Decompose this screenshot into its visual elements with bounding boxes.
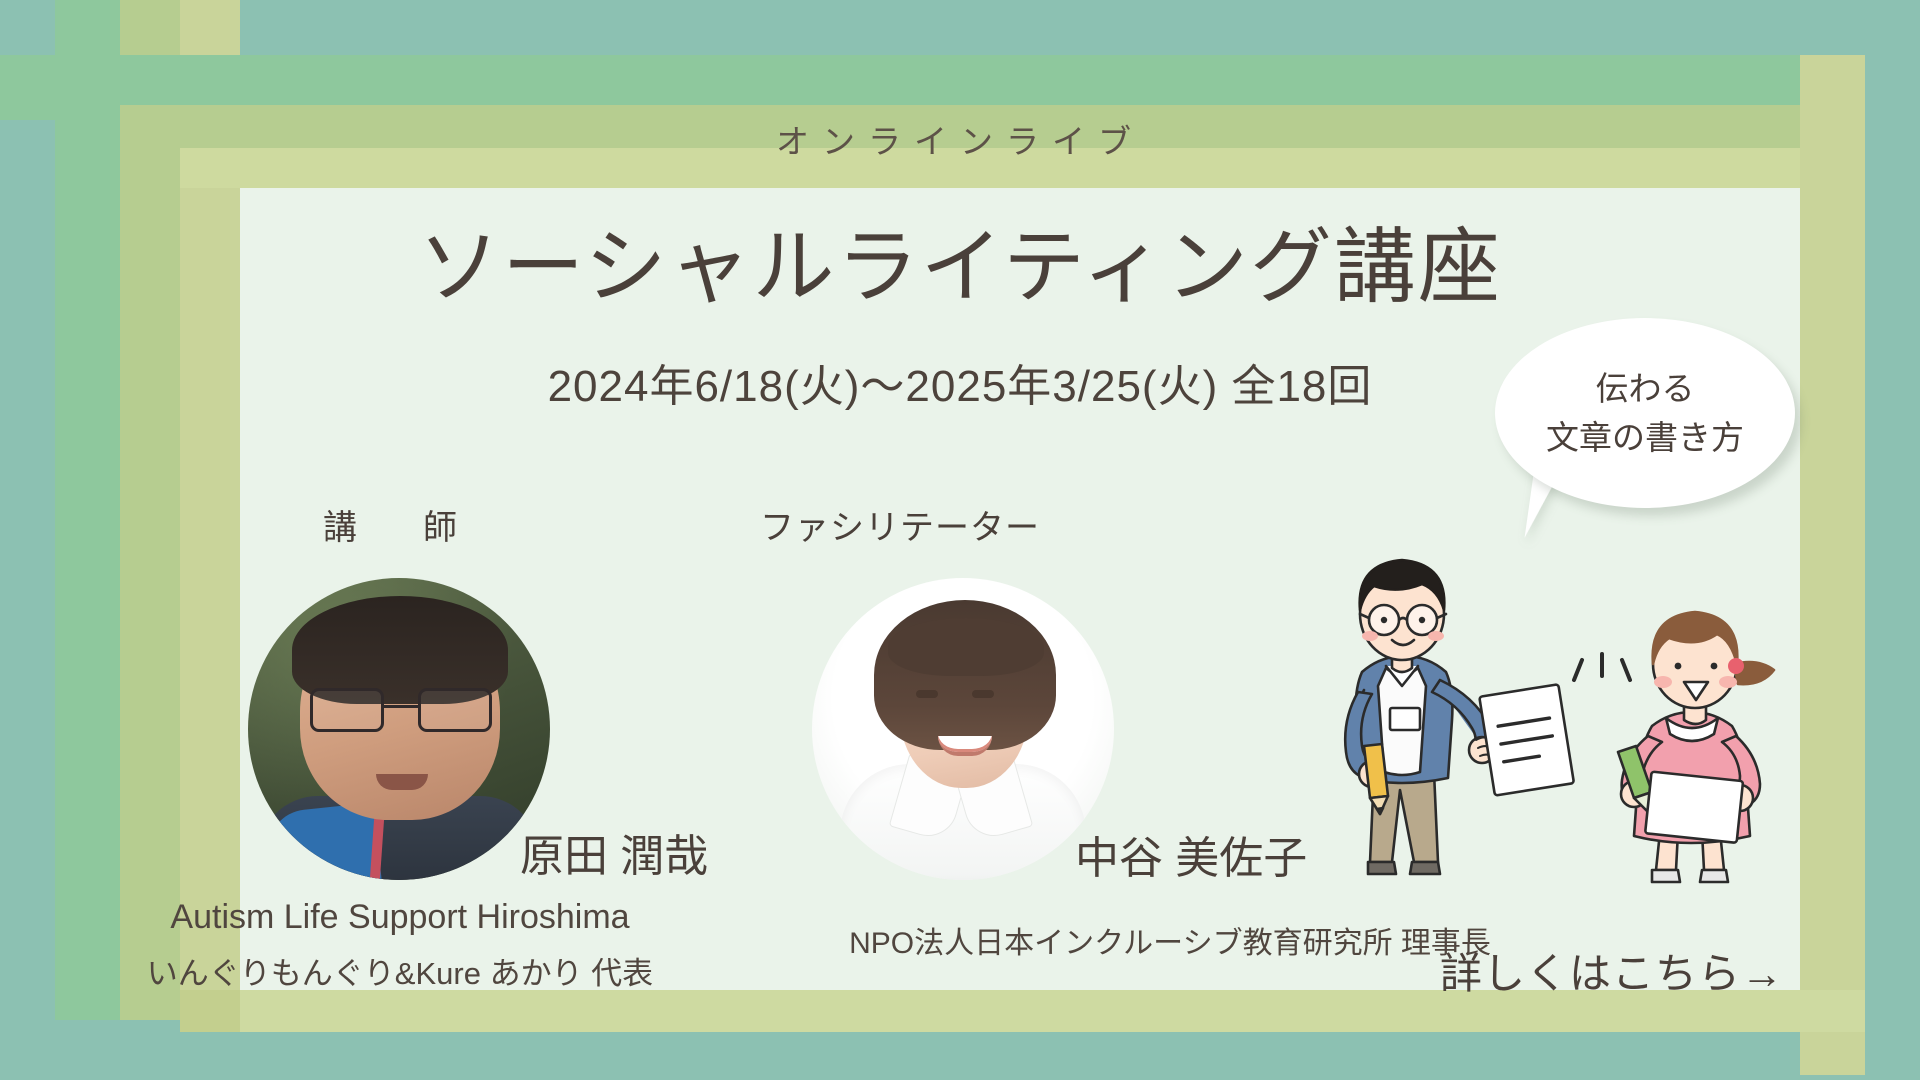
presenter-name-lecturer: 原田 潤哉	[520, 820, 708, 884]
presenter-affiliation-lecturer-line2: いんぐりもんぐり&Kure あかり 代表	[120, 948, 680, 993]
avatar-facilitator-fringe	[888, 618, 1044, 676]
page-title: ソーシャルライティング講座	[0, 200, 1920, 319]
speech-bubble: 伝わる 文章の書き方	[1495, 318, 1795, 508]
avatar-facilitator-eye-right	[972, 690, 994, 698]
poster-canvas: オンラインライブ ソーシャルライティング講座 2024年6/18(火)〜2025…	[0, 0, 1920, 1080]
presenter-name-facilitator: 中谷 美佐子	[1075, 822, 1307, 886]
two-people-writing-illustration	[1330, 540, 1800, 900]
kicker-label: オンラインライブ	[0, 115, 1920, 163]
avatar-facilitator-eye-left	[916, 690, 938, 698]
role-label-lecturer: 講 師	[200, 500, 580, 549]
presenter-affiliation-lecturer-line1: Autism Life Support Hiroshima	[120, 898, 680, 937]
avatar-lecturer	[248, 578, 550, 880]
avatar-lecturer-mouth	[376, 774, 428, 790]
speech-bubble-line-2: 文章の書き方	[1546, 413, 1744, 463]
details-link[interactable]: 詳しくはこちら→	[1440, 940, 1784, 1001]
frame-band-bottom-corner	[180, 990, 240, 1032]
glasses-icon	[310, 688, 492, 732]
speech-bubble-line-1: 伝わる	[1596, 364, 1695, 414]
role-label-facilitator: ファシリテーター	[690, 500, 1110, 549]
avatar-facilitator	[812, 578, 1114, 880]
